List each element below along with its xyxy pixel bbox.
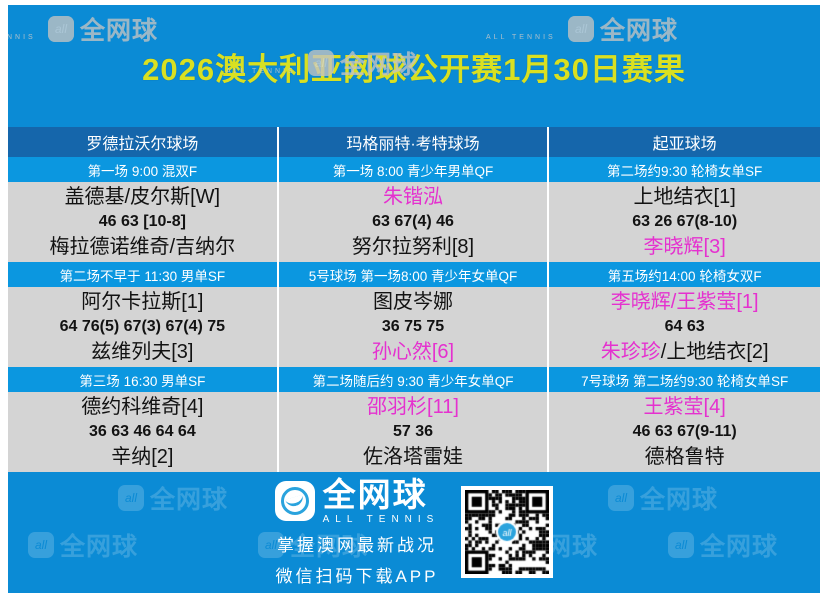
- court-header-1: 玛格丽特·考特球场: [279, 127, 550, 157]
- title-banner: 2026澳大利亚网球公开赛1月30日赛果: [8, 5, 820, 127]
- match-row-2: 全网球ALL TENNIS全网球ALL TENNIS全网球ALL TENNIS …: [8, 392, 820, 472]
- match-info-0-0: 第一场 9:00 混双F: [8, 157, 279, 182]
- watermark: 全网球: [608, 480, 718, 516]
- player-top: 朱锴泓: [383, 185, 443, 209]
- player-bottom: 佐洛塔雷娃: [363, 445, 463, 469]
- brand-name-en: ALL TENNIS: [323, 514, 440, 525]
- match-score: 63 26 67(8-10): [632, 209, 737, 235]
- player-top: 盖德基/皮尔斯[W]: [65, 185, 221, 209]
- player-bottom: 李晓辉[3]: [644, 235, 726, 259]
- match-cell-1-0: 阿尔卡拉斯[1] 64 76(5) 67(3) 67(4) 75 兹维列夫[3]: [8, 287, 279, 367]
- player-top: 王紫莹[4]: [644, 395, 726, 419]
- player-top: 李晓辉/王紫莹[1]: [611, 290, 759, 314]
- match-info-2-2: 7号球场 第二场约9:30 轮椅女单SF: [549, 367, 820, 392]
- match-info-row-1: 第二场不早于 11:30 男单SF 5号球场 第一场8:00 青少年女单QF 第…: [8, 262, 820, 287]
- match-info-2-1: 第二场随后约 9:30 青少年女单QF: [279, 367, 550, 392]
- page-title: 2026澳大利亚网球公开赛1月30日赛果: [142, 44, 686, 89]
- player-bottom: 兹维列夫[3]: [91, 340, 193, 364]
- match-info-row-0: 第一场 9:00 混双F 第一场 8:00 青少年男单QF 第二场约9:30 轮…: [8, 157, 820, 182]
- court-header-row: 罗德拉沃尔球场 玛格丽特·考特球场 起亚球场: [8, 127, 820, 157]
- match-score: 36 63 46 64 64: [89, 419, 196, 445]
- match-row-0: 全网球ALL TENNIS全网球ALL TENNIS全网球ALL TENNIS …: [8, 182, 820, 262]
- all-tennis-logo-icon: [275, 481, 315, 521]
- player-top: 图皮岑娜: [373, 290, 453, 314]
- watermark: 全网球: [28, 527, 138, 563]
- match-cell-0-1: 朱锴泓 63 67(4) 46 努尔拉努利[8]: [279, 182, 550, 262]
- brand-block: 全网球 ALL TENNIS 掌握澳网最新战况 微信扫码下载APP: [275, 478, 440, 587]
- player-bottom: 德格鲁特: [645, 445, 725, 469]
- player-top: 阿尔卡拉斯[1]: [81, 290, 203, 314]
- match-info-0-1: 第一场 8:00 青少年男单QF: [279, 157, 550, 182]
- match-info-1-2: 第五场约14:00 轮椅女双F: [549, 262, 820, 287]
- match-cell-2-1: 邵羽杉[11] 57 36 佐洛塔雷娃: [279, 392, 550, 472]
- match-score: 57 36: [393, 419, 433, 445]
- match-cell-1-2: 李晓辉/王紫莹[1] 64 63 朱珍珍/上地结衣[2]: [549, 287, 820, 367]
- match-info-row-2: 第三场 16:30 男单SF 第二场随后约 9:30 青少年女单QF 7号球场 …: [8, 367, 820, 392]
- match-cell-2-0: 德约科维奇[4] 36 63 46 64 64 辛纳[2]: [8, 392, 279, 472]
- match-row-1: 全网球ALL TENNIS全网球ALL TENNIS全网球ALL TENNIS …: [8, 287, 820, 367]
- player-bottom: 辛纳[2]: [111, 445, 173, 469]
- match-score: 36 75 75: [382, 314, 444, 340]
- match-info-2-0: 第三场 16:30 男单SF: [8, 367, 279, 392]
- footer-line-2: 微信扫码下载APP: [275, 562, 438, 587]
- match-info-1-0: 第二场不早于 11:30 男单SF: [8, 262, 279, 287]
- results-table: 罗德拉沃尔球场 玛格丽特·考特球场 起亚球场 第一场 9:00 混双F 第一场 …: [8, 127, 820, 472]
- match-cell-2-2: 王紫莹[4] 46 63 67(9-11) 德格鲁特: [549, 392, 820, 472]
- brand-top: 全网球 ALL TENNIS: [275, 478, 440, 525]
- player-top: 邵羽杉[11]: [367, 395, 459, 419]
- qr-code[interactable]: [461, 486, 553, 578]
- match-score: 63 67(4) 46: [372, 209, 454, 235]
- match-score: 46 63 [10-8]: [99, 209, 186, 235]
- player-top: 上地结衣[1]: [634, 185, 736, 209]
- results-poster: 2026澳大利亚网球公开赛1月30日赛果 罗德拉沃尔球场 玛格丽特·考特球场 起…: [8, 5, 820, 593]
- watermark: 全网球: [668, 527, 778, 563]
- court-header-2: 起亚球场: [549, 127, 820, 157]
- player-bottom: 梅拉德诺维奇/吉纳尔: [50, 235, 236, 259]
- match-score: 64 76(5) 67(3) 67(4) 75: [60, 314, 225, 340]
- match-info-0-2: 第二场约9:30 轮椅女单SF: [549, 157, 820, 182]
- player-top: 德约科维奇[4]: [81, 395, 203, 419]
- match-cell-0-0: 盖德基/皮尔斯[W] 46 63 [10-8] 梅拉德诺维奇/吉纳尔: [8, 182, 279, 262]
- qr-canvas: [465, 490, 549, 574]
- player-bottom: 孙心然[6]: [372, 340, 454, 364]
- match-score: 64 63: [665, 314, 705, 340]
- brand-name: 全网球: [323, 478, 440, 511]
- player-bottom: 努尔拉努利[8]: [352, 235, 474, 259]
- court-header-0: 罗德拉沃尔球场: [8, 127, 279, 157]
- footer: 全网球全网球全网球全网球全网球全网球 全网球 ALL TENNIS 掌握澳网最新…: [8, 472, 820, 592]
- match-cell-0-2: 上地结衣[1] 63 26 67(8-10) 李晓辉[3]: [549, 182, 820, 262]
- watermark: 全网球: [118, 480, 228, 516]
- footer-line-1: 掌握澳网最新战况: [277, 531, 437, 556]
- match-info-1-1: 5号球场 第一场8:00 青少年女单QF: [279, 262, 550, 287]
- match-cell-1-1: 图皮岑娜 36 75 75 孙心然[6]: [279, 287, 550, 367]
- match-score: 46 63 67(9-11): [633, 419, 737, 445]
- player-bottom: 朱珍珍/上地结衣[2]: [601, 340, 769, 364]
